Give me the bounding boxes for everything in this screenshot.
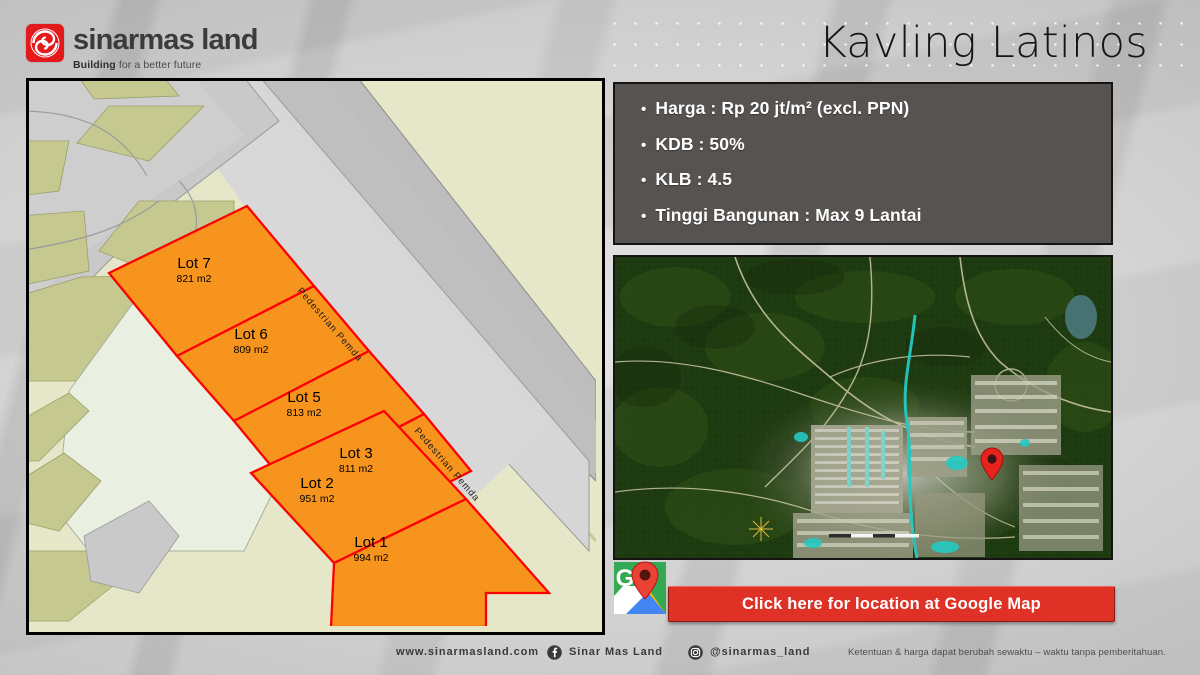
google-map-link-button[interactable]: Click here for location at Google Map bbox=[668, 586, 1115, 622]
spec-item-kdb: • KDB : 50% bbox=[641, 136, 1089, 154]
lot-label-3-area: 811 m2 bbox=[339, 463, 373, 475]
bullet-icon: • bbox=[641, 102, 646, 117]
lot-label-5-area: 813 m2 bbox=[286, 407, 321, 419]
sinarmas-spiral-logo-icon bbox=[26, 24, 64, 62]
brand-name: sinarmas land bbox=[73, 26, 258, 55]
bullet-icon: • bbox=[641, 138, 646, 153]
facebook-label: Sinar Mas Land bbox=[569, 646, 663, 658]
spec-text-klb: KLB : 4.5 bbox=[655, 171, 732, 189]
lot-label-2-area: 951 m2 bbox=[299, 493, 334, 505]
lot-label-1-area: 994 m2 bbox=[353, 552, 388, 564]
google-maps-icon[interactable]: G bbox=[612, 560, 668, 616]
spec-item-harga: • Harga : Rp 20 jt/m² (excl. PPN) bbox=[641, 100, 1089, 118]
bullet-icon: • bbox=[641, 173, 646, 188]
tagline-rest: for a better future bbox=[116, 59, 201, 71]
lot-label-3-name: Lot 3 bbox=[339, 445, 372, 462]
svg-text:G: G bbox=[616, 565, 635, 592]
spec-item-tinggi-bangunan: • Tinggi Bangunan : Max 9 Lantai bbox=[641, 207, 1089, 225]
compass-north-label: N bbox=[126, 631, 132, 635]
website-label: www.sinarmasland.com bbox=[396, 646, 539, 658]
google-map-link-label: Click here for location at Google Map bbox=[742, 595, 1041, 614]
lot-label-5-name: Lot 5 bbox=[287, 389, 320, 406]
facebook-icon bbox=[547, 645, 562, 660]
lot-label-2-name: Lot 2 bbox=[300, 475, 333, 492]
compass-rose-icon: N S E W bbox=[91, 629, 167, 635]
spec-text-tinggi-bangunan: Tinggi Bangunan : Max 9 Lantai bbox=[655, 207, 921, 225]
specifications-panel: • Harga : Rp 20 jt/m² (excl. PPN) • KDB … bbox=[613, 82, 1113, 245]
satellite-imagery bbox=[615, 257, 1111, 558]
spec-text-harga: Harga : Rp 20 jt/m² (excl. PPN) bbox=[655, 100, 909, 118]
lot-label-6-area: 809 m2 bbox=[233, 344, 268, 356]
footer-instagram[interactable]: @sinarmas_land bbox=[688, 645, 810, 660]
map-pin-icon bbox=[979, 447, 1005, 481]
tagline-bold: Building bbox=[73, 59, 116, 71]
footer-disclaimer: Ketentuan & harga dapat berubah sewaktu … bbox=[848, 647, 1166, 658]
page-title: Kavling Latinos bbox=[819, 18, 1148, 68]
instagram-label: @sinarmas_land bbox=[710, 646, 810, 658]
lot-label-7-name: Lot 7 bbox=[177, 255, 210, 272]
spec-item-klb: • KLB : 4.5 bbox=[641, 171, 1089, 189]
site-plan-drawing: Lot 7 821 m2 Lot 6 809 m2 Lot 5 813 m2 L… bbox=[29, 81, 596, 626]
satellite-map[interactable] bbox=[613, 255, 1113, 560]
brand-tagline: Building for a better future bbox=[73, 59, 258, 71]
spec-text-kdb: KDB : 50% bbox=[655, 136, 744, 154]
instagram-icon bbox=[688, 645, 703, 660]
brand-logo: sinarmas land Building for a better futu… bbox=[26, 24, 258, 71]
bullet-icon: • bbox=[641, 209, 646, 224]
lot-label-6-name: Lot 6 bbox=[234, 326, 267, 343]
footer-facebook[interactable]: Sinar Mas Land bbox=[547, 645, 663, 660]
footer-website[interactable]: www.sinarmasland.com bbox=[396, 646, 539, 658]
footer: www.sinarmasland.com Sinar Mas Land @sin… bbox=[0, 640, 1200, 664]
lot-label-7-area: 821 m2 bbox=[176, 273, 211, 285]
lot-label-1-name: Lot 1 bbox=[354, 534, 387, 551]
site-plan-map[interactable]: Lot 7 821 m2 Lot 6 809 m2 Lot 5 813 m2 L… bbox=[26, 78, 605, 635]
